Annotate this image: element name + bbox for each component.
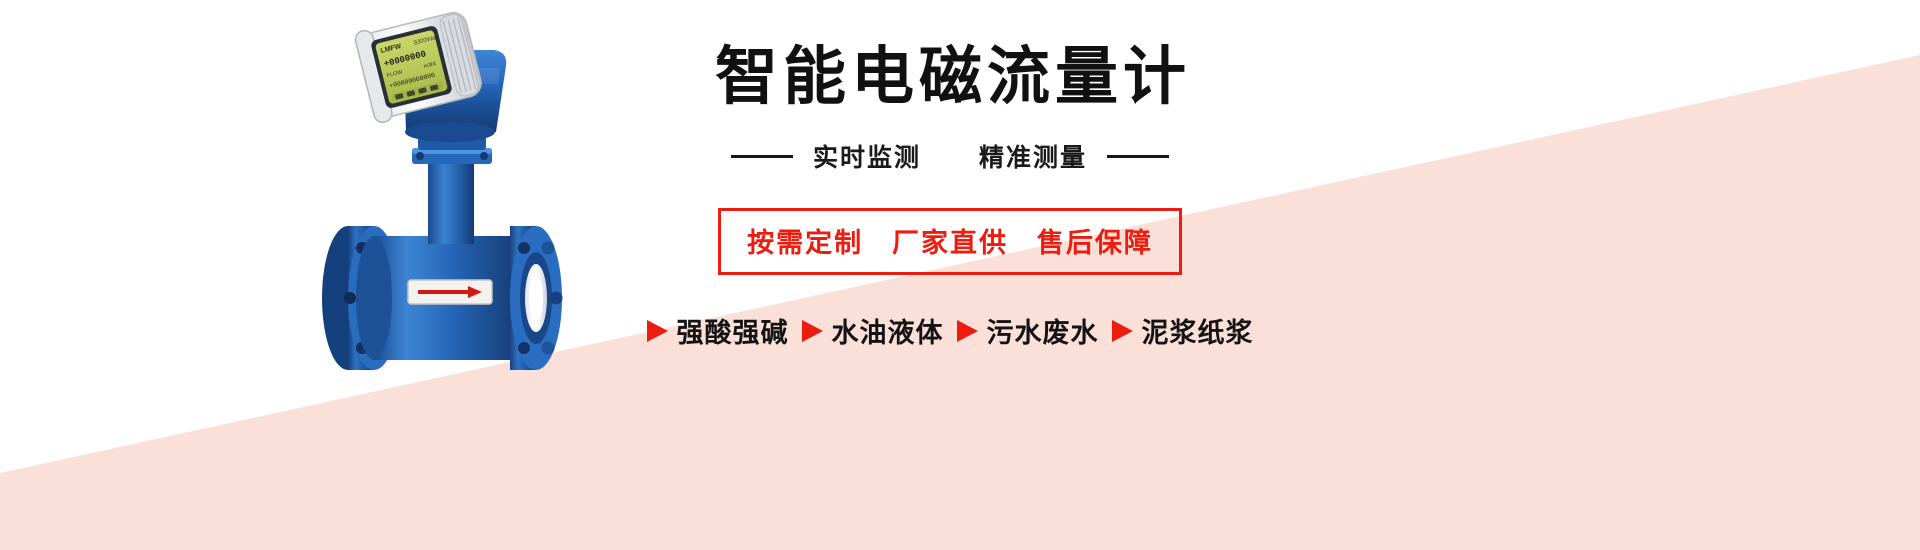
horizontal-rule-icon-left bbox=[731, 155, 793, 158]
banner-text-content: 智能电磁流量计 实时监测 精准测量 按需定制 厂家直供 售后保障 强酸强碱 水油… bbox=[600, 0, 1300, 550]
guarantee-badge-box: 按需定制 厂家直供 售后保障 bbox=[718, 208, 1182, 275]
subtitle-left: 实时监测 bbox=[813, 138, 921, 174]
subtitle-row: 实时监测 精准测量 bbox=[731, 138, 1169, 174]
list-item: 泥浆纸浆 bbox=[1112, 311, 1254, 350]
page-title: 智能电磁流量计 bbox=[715, 44, 1191, 110]
list-item: 污水废水 bbox=[957, 311, 1099, 350]
subtitle-right: 精准测量 bbox=[979, 138, 1087, 174]
badge-item-factory: 厂家直供 bbox=[892, 228, 1008, 258]
list-item: 水油液体 bbox=[802, 311, 944, 350]
product-banner: LMFW 8300Wa +0000000 FLOW m3/d +00000000… bbox=[0, 0, 1920, 550]
application-label: 泥浆纸浆 bbox=[1142, 311, 1254, 350]
arrow-right-icon bbox=[647, 320, 668, 342]
application-list: 强酸强碱 水油液体 污水废水 泥浆纸浆 bbox=[647, 311, 1254, 350]
application-label: 强酸强碱 bbox=[677, 311, 789, 350]
badge-item-aftersales: 售后保障 bbox=[1037, 228, 1153, 258]
arrow-right-icon bbox=[1112, 320, 1133, 342]
arrow-right-icon bbox=[802, 320, 823, 342]
horizontal-rule-icon-right bbox=[1107, 155, 1169, 158]
arrow-right-icon bbox=[957, 320, 978, 342]
list-item: 强酸强碱 bbox=[647, 311, 789, 350]
application-label: 水油液体 bbox=[832, 311, 944, 350]
application-label: 污水废水 bbox=[987, 311, 1099, 350]
electromagnetic-flowmeter-illustration: LMFW 8300Wa +0000000 FLOW m3/d +00000000… bbox=[300, 8, 630, 403]
badge-item-custom: 按需定制 bbox=[747, 228, 863, 258]
